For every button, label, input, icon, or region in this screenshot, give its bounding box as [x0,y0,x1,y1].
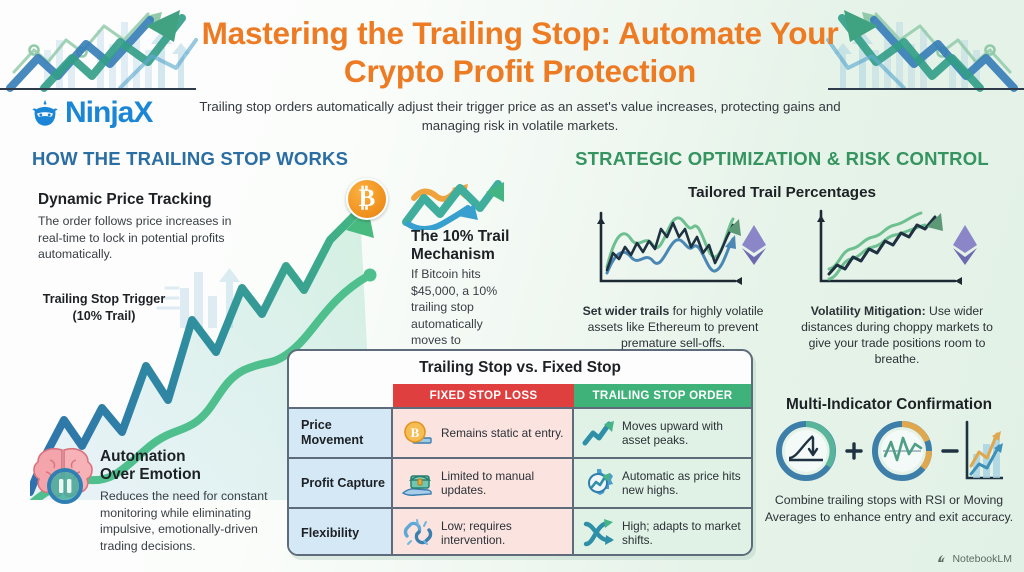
row-label-price-movement: Price Movement [289,409,393,457]
automation-title: Automation Over Emotion [100,448,222,484]
cell-fixed-profit-capture: Limited to manual updates. [393,459,574,507]
header-rule-left [0,88,196,90]
table-row: Price Movement B Remains static at entry… [289,407,751,457]
page-title: Mastering the Trailing Stop: Automate Yo… [182,14,858,90]
broken-chain-icon [401,516,435,550]
cell-trailing-price-movement: Moves upward with asset peaks. [574,409,751,457]
section-heading-left: HOW THE TRAILING STOP WORKS [32,148,348,170]
decorative-growth-chart-left [0,0,205,92]
multi-indicator-title: Multi-Indicator Confirmation [763,396,1015,414]
trailing-stop-trigger-label: Trailing Stop Trigger (10% Trail) [38,291,170,325]
cell-text: Automatic as price hits new highs. [616,469,751,498]
cell-fixed-flexibility: Low; requires intervention. [393,509,574,556]
cell-text: High; adapts to market shifts. [616,519,751,548]
trail-mechanism-title: The 10% Trail Mechanism [411,228,515,264]
table-row: Profit Capture Limited to manual updates… [289,457,751,507]
panel-caption: Volatility Mitigation: Use wider distanc… [797,303,997,367]
automation-body: Reduces the need for constant monitoring… [100,488,280,554]
table-header-row: FIXED STOP LOSS TRAILING STOP ORDER [289,384,751,407]
infographic-canvas: Mastering the Trailing Stop: Automate Yo… [0,0,1024,572]
cell-text: Low; requires intervention. [435,519,572,548]
panel-caption: Set wider trails for highly volatile ass… [573,303,773,351]
volatile-price-chart-icon [573,207,773,295]
tailored-trail-title: Tailored Trail Percentages [551,184,1013,201]
cell-text: Moves upward with asset peaks. [616,419,751,448]
brand-logo: NinjaX [30,96,152,130]
cell-text: Limited to manual updates. [435,469,572,498]
plus-icon [847,444,861,458]
table-header-fixed-stop-loss: FIXED STOP LOSS [393,384,574,407]
multi-indicator-icons [775,418,1003,484]
multi-indicator-body: Combine trailing stops with RSI or Movin… [763,492,1015,525]
bitcoin-coin-icon: ₿ [346,178,388,220]
panel-wider-trails: Set wider trails for highly volatile ass… [573,207,773,351]
hand-treasure-chest-icon [401,466,435,500]
panel-volatility-mitigation: Volatility Mitigation: Use wider distanc… [797,207,997,367]
bitcoin-coin-icon: B [401,416,435,450]
brand-name: NinjaX [65,96,152,130]
dynamic-price-tracking-title: Dynamic Price Tracking [38,191,212,209]
caption-lead: Volatility Mitigation: [811,304,926,318]
cell-trailing-flexibility: High; adapts to market shifts. [574,509,751,556]
trail-mechanism-arrows-icon [398,178,508,230]
dynamic-price-tracking-body: The order follows price increases in rea… [38,213,254,263]
branching-arrows-icon [582,516,616,550]
page-subtitle: Trailing stop orders automatically adjus… [196,97,844,135]
section-heading-right: STRATEGIC OPTIMIZATION & RISK CONTROL [551,148,1013,170]
brain-pause-icon [30,444,96,506]
row-label-profit-capture: Profit Capture [289,459,393,507]
watermark-label: NotebookLM [952,553,1012,565]
comparison-table-title: Trailing Stop vs. Fixed Stop [289,351,751,384]
steady-uptrend-chart-icon [797,207,997,295]
rsi-gauge-icon [779,424,833,478]
table-header-blank [289,384,393,407]
bar-chart-trend-icon [967,422,1003,478]
oscillator-gauge-icon [875,424,929,478]
comparison-table: Trailing Stop vs. Fixed Stop FIXED STOP … [287,349,753,556]
watermark: NotebookLM [936,553,1012,565]
notebooklm-icon [936,553,948,565]
cell-trailing-profit-capture: Automatic as price hits new highs. [574,459,751,507]
table-row: Flexibility Low; requires intervention. … [289,507,751,556]
table-header-trailing-stop-order: TRAILING STOP ORDER [574,384,751,407]
ninja-mask-icon [30,98,60,128]
cell-text: Remains static at entry. [435,426,567,441]
caption-lead: Set wider trails [583,304,670,318]
row-label-flexibility: Flexibility [289,509,393,556]
upward-trend-arrow-icon [582,416,616,450]
gear-chart-icon [582,466,616,500]
cell-fixed-price-movement: B Remains static at entry. [393,409,574,457]
svg-text:B: B [411,425,420,440]
